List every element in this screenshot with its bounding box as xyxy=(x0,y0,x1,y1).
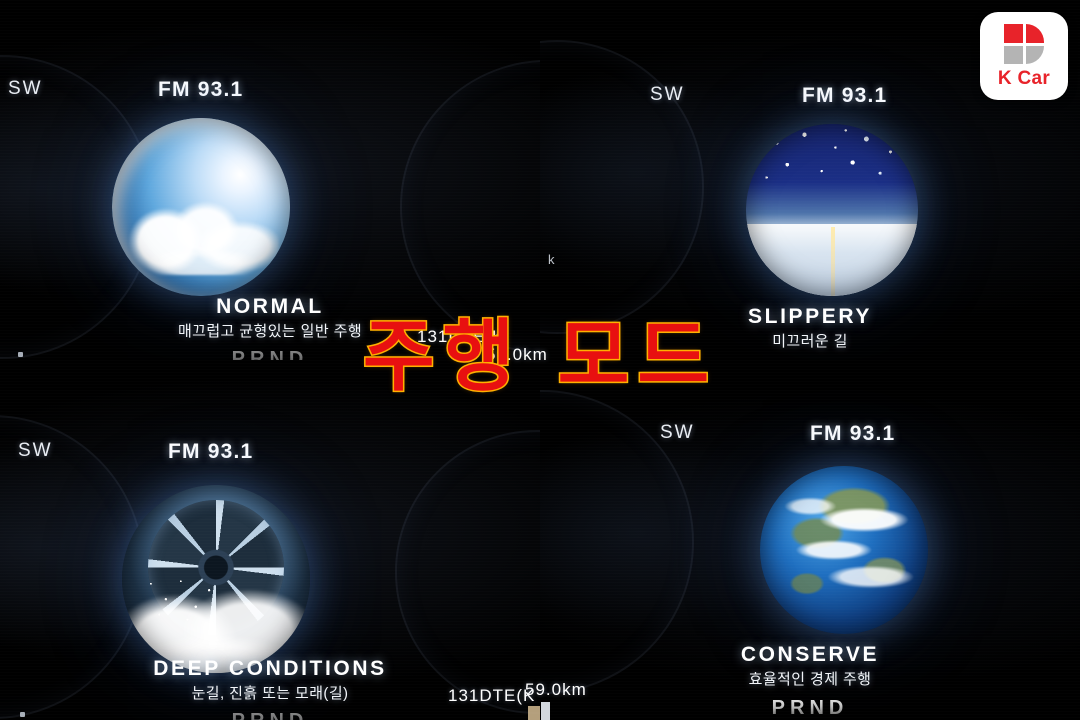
gear-indicator: PRND xyxy=(0,710,540,720)
radio-frequency-label: FM 93.1 xyxy=(158,78,243,102)
sw-label: SW xyxy=(650,84,685,106)
sphere-sky-cloud-icon xyxy=(112,118,290,296)
kcar-logo-mark-icon xyxy=(1004,24,1044,64)
screenshot-stage: SW FM 93.1 NORMAL 매끄럽고 균형있는 일반 주행 PRND S… xyxy=(0,0,1080,720)
sw-label: SW xyxy=(18,440,53,462)
sw-label: SW xyxy=(8,78,43,100)
sphere-snow-road-icon xyxy=(746,124,918,296)
cluster-indicator-dot-icon xyxy=(20,712,25,717)
sw-label: SW xyxy=(660,422,695,444)
radio-frequency-label: FM 93.1 xyxy=(168,440,253,464)
fuel-bar-icon xyxy=(541,702,550,720)
drive-mode-panel-deep-conditions[interactable]: SW FM 93.1 DEEP CONDITIONS 눈길, 진흙 또는 모래(… xyxy=(0,360,540,720)
trip-distance-readout-bottom: 59.0km xyxy=(525,680,587,700)
dte-readout-bottom: 131DTE(K xyxy=(448,686,535,706)
unit-fragment: k xyxy=(548,252,555,267)
overlay-title: 주행 모드 xyxy=(0,318,1080,396)
gear-indicator: PRND xyxy=(540,697,1080,720)
radio-frequency-label: FM 93.1 xyxy=(810,422,895,446)
drive-mode-panel-conserve[interactable]: SW FM 93.1 CONSERVE 효율적인 경제 주행 PRND xyxy=(540,360,1080,720)
fuel-bar-icon xyxy=(528,706,540,720)
radio-frequency-label: FM 93.1 xyxy=(802,84,887,108)
sphere-earth-icon xyxy=(760,466,928,634)
mode-description-conserve: 효율적인 경제 주행 xyxy=(540,668,1080,689)
drive-mode-panel-normal[interactable]: SW FM 93.1 NORMAL 매끄럽고 균형있는 일반 주행 PRND xyxy=(0,0,540,360)
kcar-watermark[interactable]: K Car xyxy=(980,12,1068,100)
sphere-wheel-spray-icon xyxy=(122,485,310,673)
kcar-brand-label: K Car xyxy=(998,69,1050,88)
mode-name-conserve: CONSERVE xyxy=(540,643,1080,667)
mode-name-deep-conditions: DEEP CONDITIONS xyxy=(0,657,540,681)
